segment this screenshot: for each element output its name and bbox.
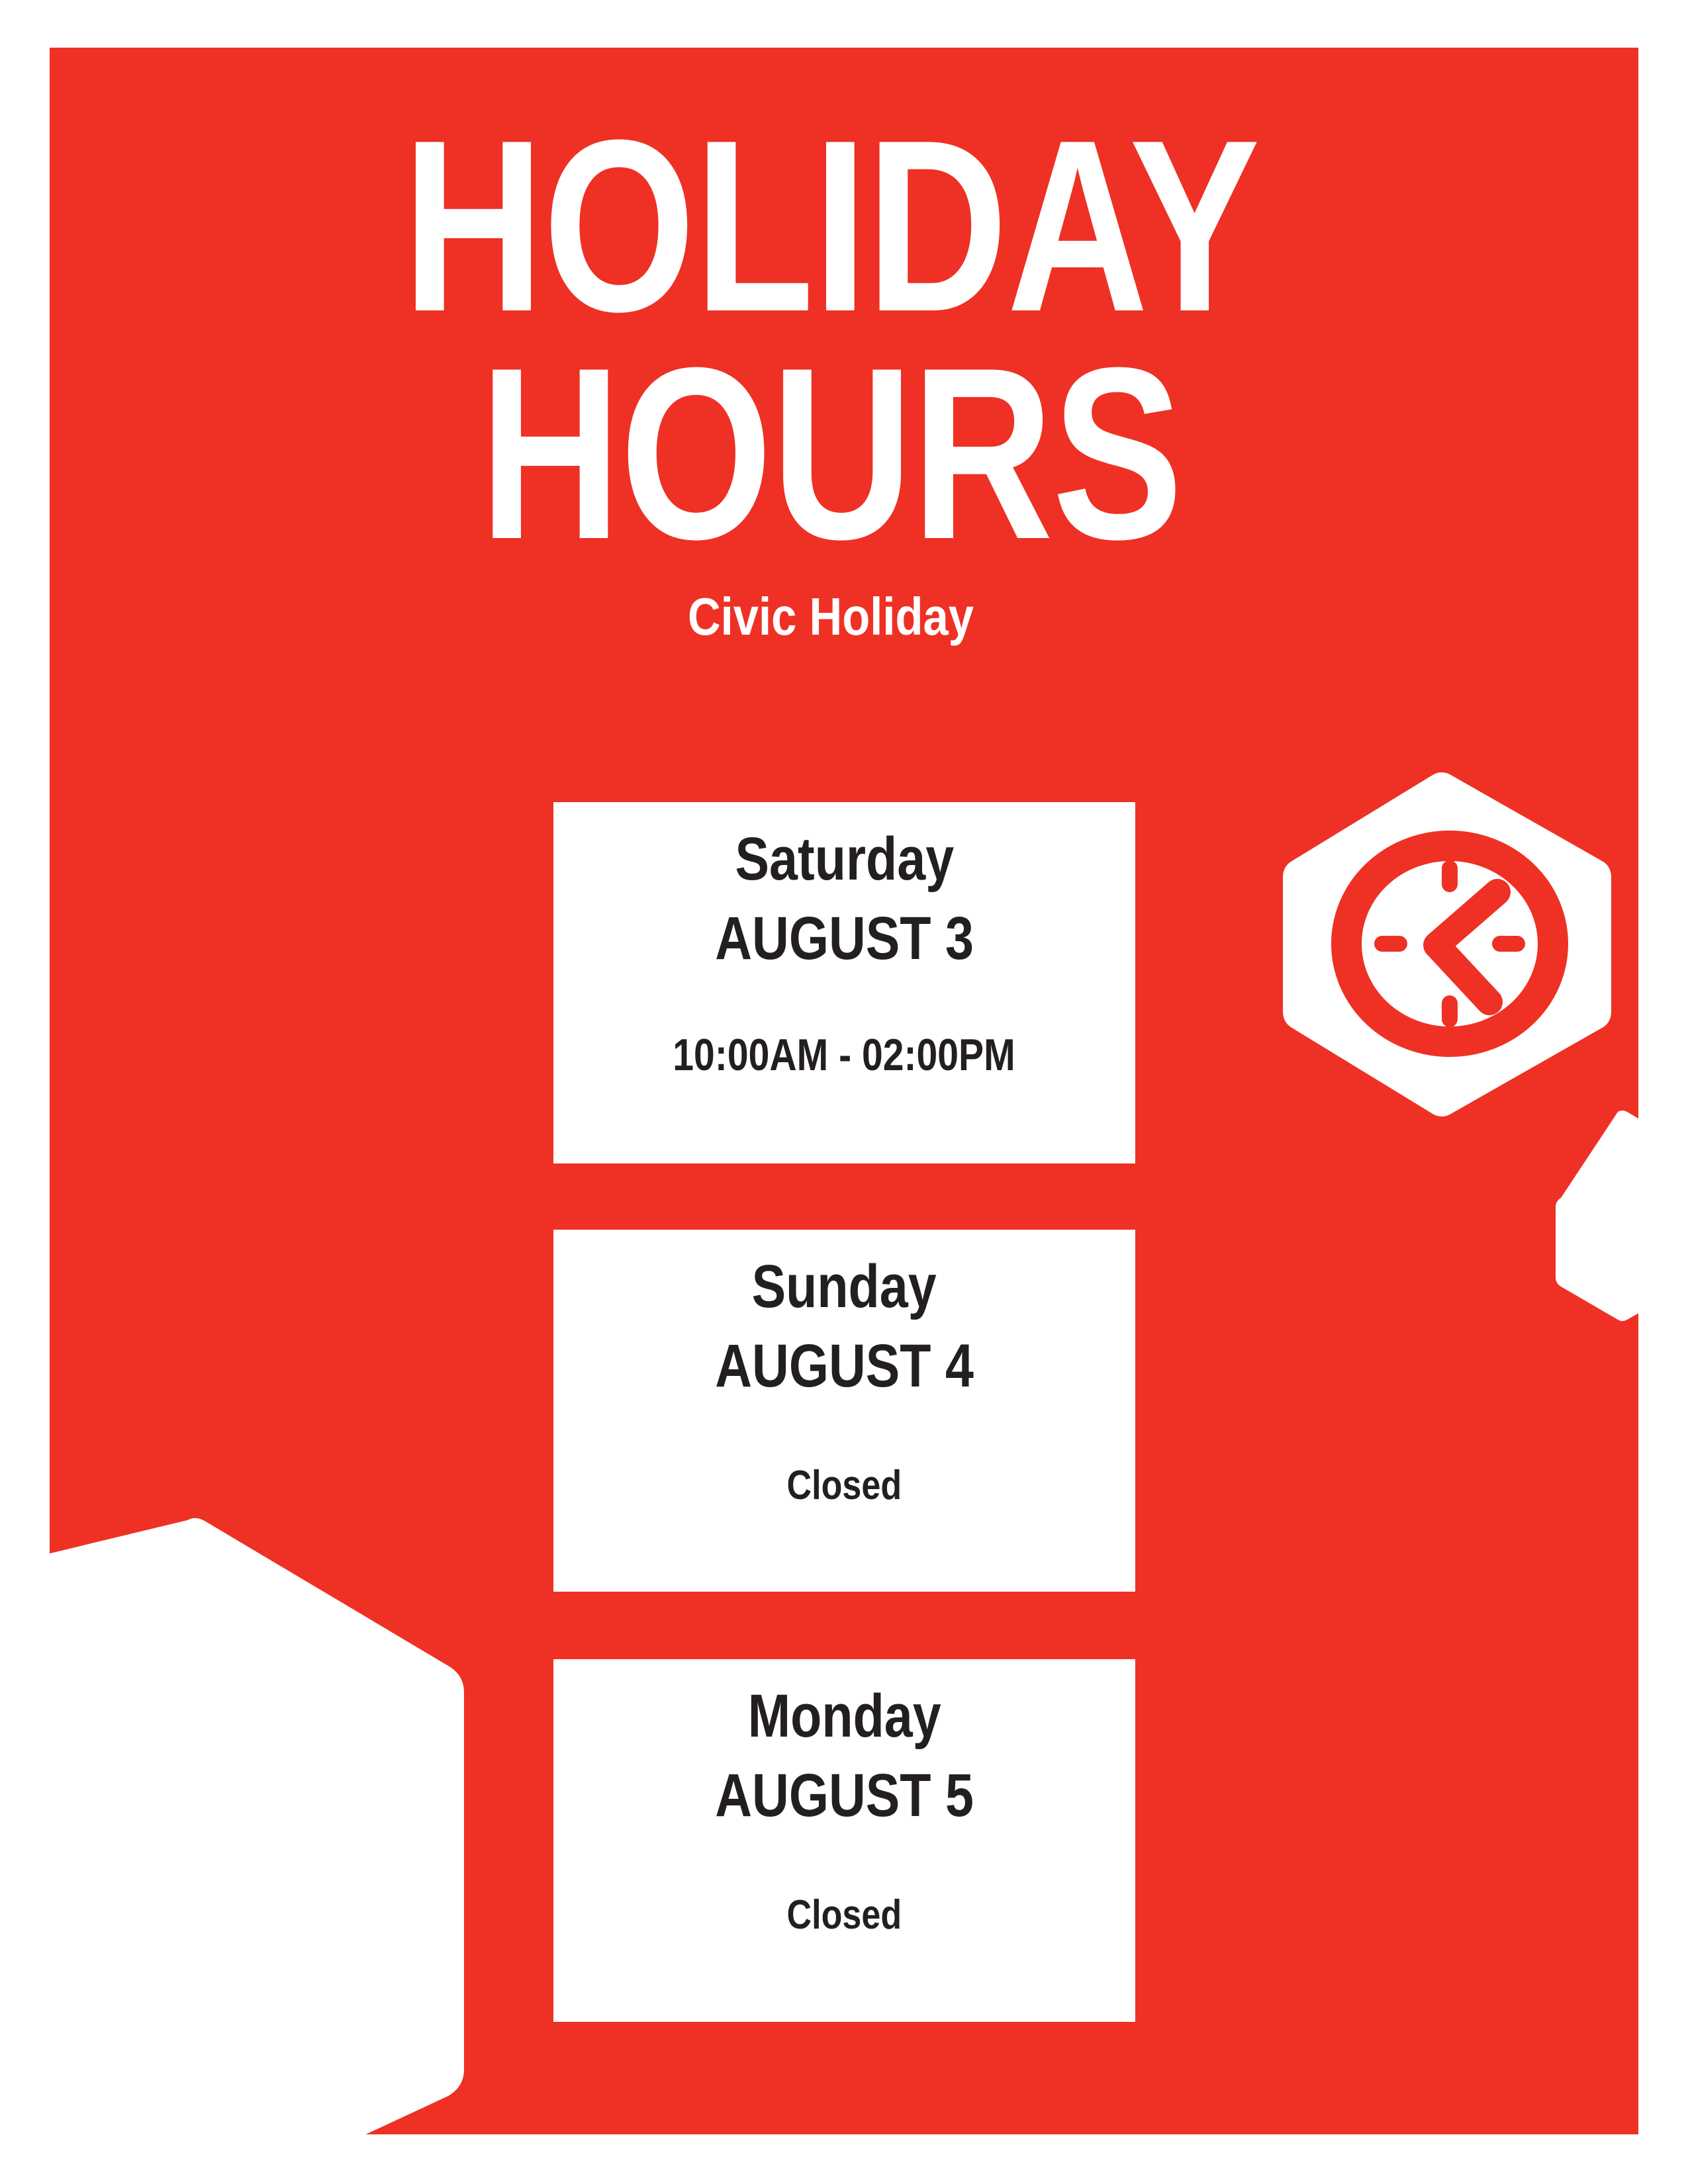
schedule-hours: Closed	[787, 1895, 902, 1936]
schedule-day-name: Monday	[748, 1686, 941, 1747]
poster-title-block: HOLIDAY HOURS Civic Holiday	[50, 113, 1612, 643]
hexagon-decoration-icon	[1529, 1107, 1638, 1325]
schedule-hours: Closed	[787, 1465, 902, 1506]
holiday-hours-poster: HOLIDAY HOURS Civic Holiday Saturday AUG…	[0, 0, 1688, 2184]
schedule-date: AUGUST 3	[715, 908, 974, 969]
page-title-line-1: HOLIDAY	[206, 113, 1456, 340]
schedule-hours: 10:00AM - 02:00PM	[673, 1032, 1015, 1077]
page-title-line-2: HOURS	[206, 340, 1456, 568]
hexagon-decoration-icon	[0, 1479, 467, 2184]
poster-subtitle: Civic Holiday	[159, 590, 1503, 643]
schedule-card: Saturday AUGUST 3 10:00AM - 02:00PM	[553, 802, 1135, 1163]
schedule-day-name: Sunday	[752, 1256, 937, 1317]
clock-in-hexagon-icon	[1278, 769, 1622, 1120]
schedule-day-name: Saturday	[735, 829, 954, 889]
schedule-card: Sunday AUGUST 4 Closed	[553, 1230, 1135, 1592]
schedule-date: AUGUST 5	[715, 1765, 974, 1826]
schedule-card: Monday AUGUST 5 Closed	[553, 1659, 1135, 2022]
schedule-date: AUGUST 4	[715, 1336, 974, 1396]
